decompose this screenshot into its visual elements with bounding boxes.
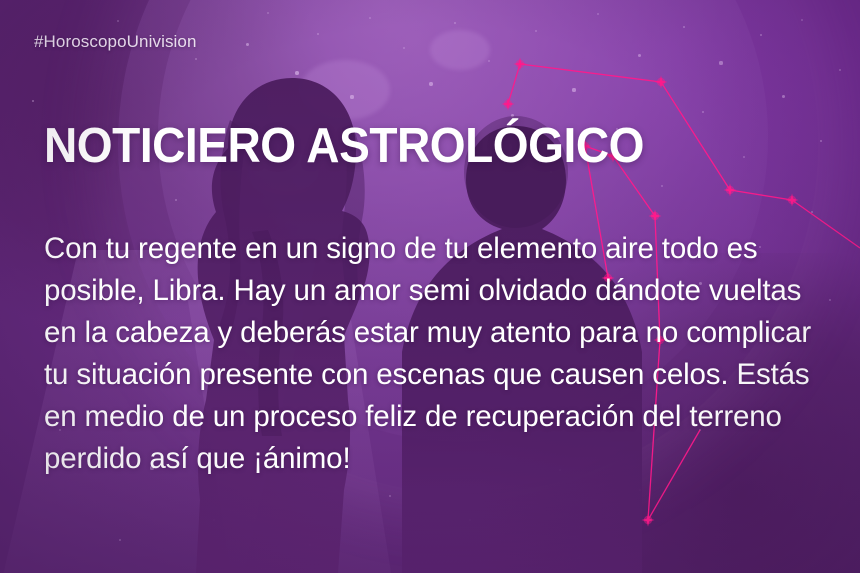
card-content: #HoroscopoUnivision NOTICIERO ASTROLÓGIC…	[0, 0, 860, 573]
hashtag-label: #HoroscopoUnivision	[34, 32, 197, 52]
horoscope-body-text: Con tu regente en un signo de tu element…	[44, 228, 834, 480]
page-title: NOTICIERO ASTROLÓGICO	[44, 120, 644, 172]
horoscope-card: #HoroscopoUnivision NOTICIERO ASTROLÓGIC…	[0, 0, 860, 573]
